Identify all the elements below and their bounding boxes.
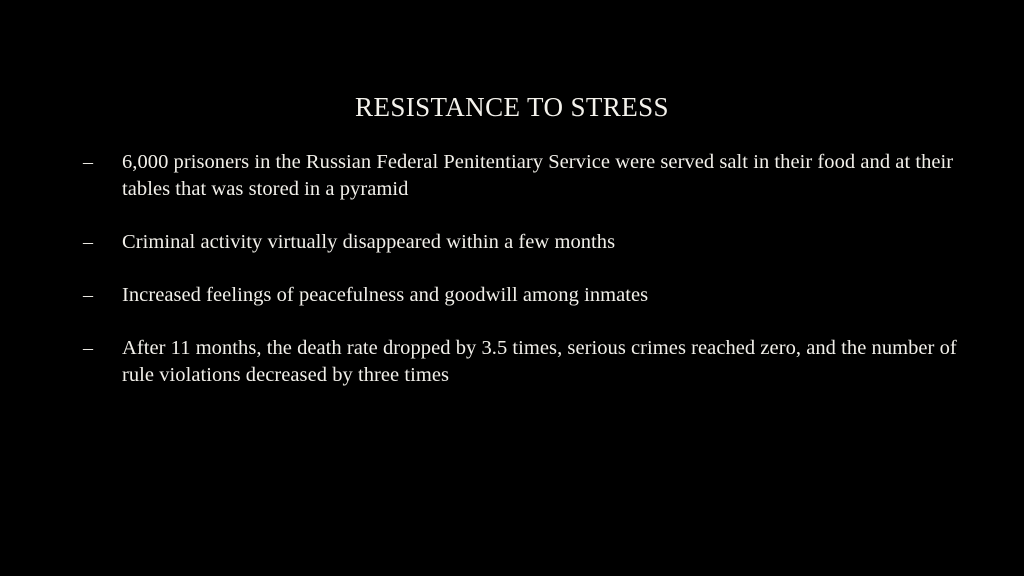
- bullet-list: – 6,000 prisoners in the Russian Federal…: [80, 149, 970, 389]
- list-item: – Increased feelings of peacefulness and…: [80, 282, 970, 309]
- bullet-dash-icon: –: [80, 335, 122, 362]
- bullet-dash-icon: –: [80, 282, 122, 309]
- list-item: – 6,000 prisoners in the Russian Federal…: [80, 149, 970, 203]
- bullet-dash-icon: –: [80, 229, 122, 256]
- list-item: – After 11 months, the death rate droppe…: [80, 335, 970, 389]
- list-item-text: After 11 months, the death rate dropped …: [122, 335, 960, 389]
- list-item-text: Increased feelings of peacefulness and g…: [122, 282, 960, 309]
- list-item: – Criminal activity virtually disappeare…: [80, 229, 970, 256]
- list-item-text: 6,000 prisoners in the Russian Federal P…: [122, 149, 960, 203]
- presentation-slide: RESISTANCE TO STRESS – 6,000 prisoners i…: [0, 0, 1024, 576]
- page-title: RESISTANCE TO STRESS: [0, 90, 1024, 124]
- bullet-dash-icon: –: [80, 149, 122, 176]
- list-item-text: Criminal activity virtually disappeared …: [122, 229, 960, 256]
